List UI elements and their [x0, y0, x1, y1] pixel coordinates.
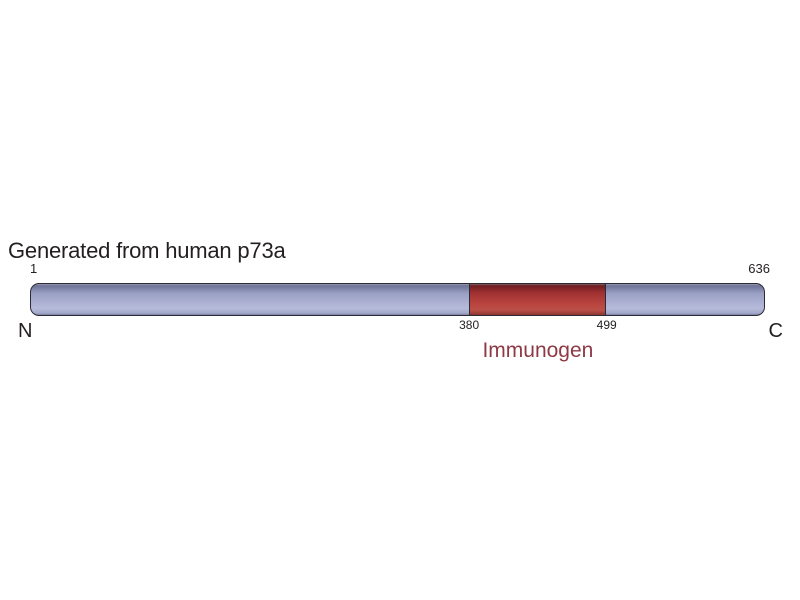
protein-domain-figure: Generated from human p73a 1 636 N C 380 … [0, 0, 800, 600]
position-label-end: 636 [748, 262, 770, 275]
n-terminus-label: N [18, 321, 32, 341]
protein-diagram: 1 636 N C 380 499 Immunogen [30, 283, 765, 316]
immunogen-start-label: 380 [459, 319, 479, 331]
c-terminus-label: C [769, 321, 783, 341]
protein-backbone-bar [30, 283, 765, 316]
figure-title: Generated from human p73a [8, 238, 286, 264]
immunogen-region-block [469, 284, 606, 315]
immunogen-end-label: 499 [597, 319, 617, 331]
immunogen-region-label: Immunogen [482, 340, 593, 361]
position-label-start: 1 [30, 262, 37, 275]
